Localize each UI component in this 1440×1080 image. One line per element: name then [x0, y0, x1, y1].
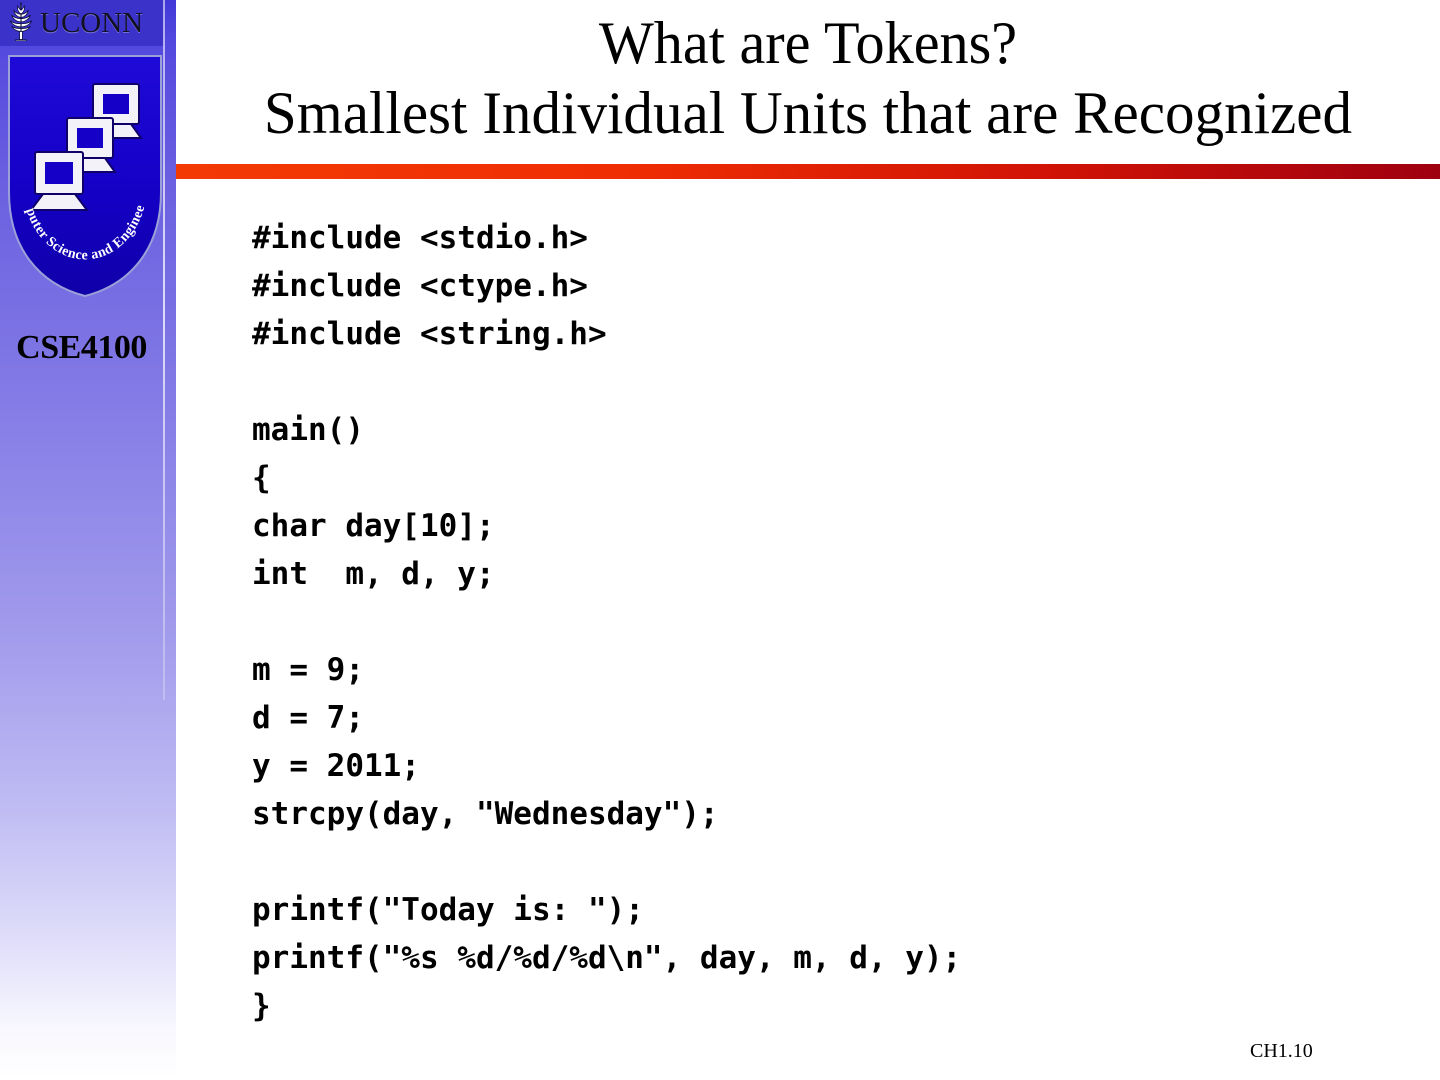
cse-shield-logo: Computer Science and Engineering: [5, 52, 165, 300]
slide-title: What are Tokens? Smallest Individual Uni…: [176, 8, 1440, 148]
code-line: strcpy(day, "Wednesday");: [252, 790, 1382, 838]
code-line: #include <ctype.h>: [252, 262, 1382, 310]
code-line-blank: [252, 598, 1382, 646]
code-line: }: [252, 982, 1382, 1030]
code-line: int m, d, y;: [252, 550, 1382, 598]
code-line: {: [252, 454, 1382, 502]
slide-number: CH1.10: [1250, 1040, 1400, 1063]
code-line-blank: [252, 358, 1382, 406]
oak-tree-icon: [4, 1, 38, 46]
uconn-logo: UCONN: [0, 0, 163, 46]
title-line-secondary: Smallest Individual Units that are Recog…: [185, 78, 1430, 148]
code-line-blank: [252, 838, 1382, 886]
sidebar: UCONN: [0, 0, 176, 1080]
code-line: y = 2011;: [252, 742, 1382, 790]
code-line: printf("Today is: ");: [252, 886, 1382, 934]
code-line: m = 9;: [252, 646, 1382, 694]
title-divider-bar: [176, 164, 1440, 179]
code-line: char day[10];: [252, 502, 1382, 550]
title-line-primary: What are Tokens?: [195, 8, 1421, 78]
code-line: #include <string.h>: [252, 310, 1382, 358]
code-line: d = 7;: [252, 694, 1382, 742]
course-code-label: CSE4100: [0, 326, 163, 370]
code-line: printf("%s %d/%d/%d\n", day, m, d, y);: [252, 934, 1382, 982]
slide-canvas: UCONN: [0, 0, 1440, 1080]
code-listing: #include <stdio.h>#include <ctype.h>#inc…: [252, 214, 1382, 1030]
code-line: main(): [252, 406, 1382, 454]
code-line: #include <stdio.h>: [252, 214, 1382, 262]
uconn-wordmark-text: UCONN: [40, 9, 143, 38]
